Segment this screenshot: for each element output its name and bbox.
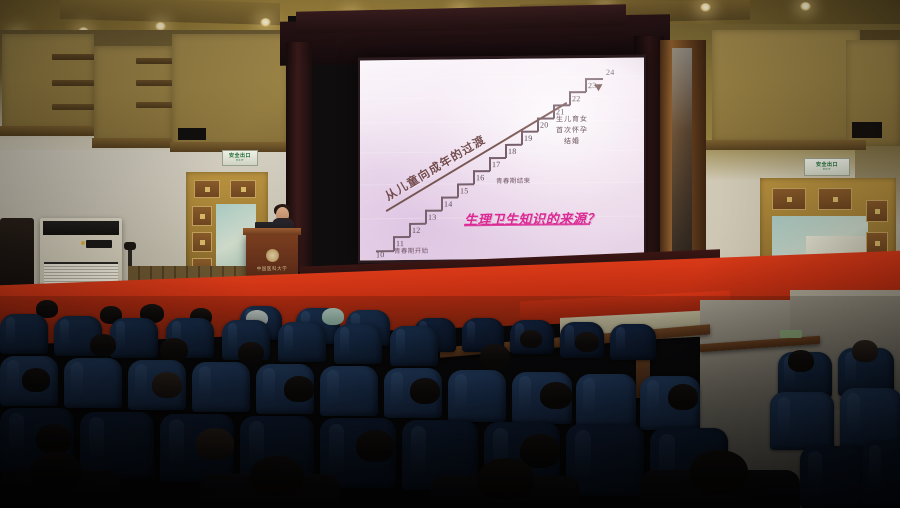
- stair-riser: [425, 210, 427, 224]
- audience-head: [480, 344, 510, 369]
- seat: [320, 366, 378, 416]
- stair-number: 24: [606, 68, 614, 77]
- acoustic-panel: [712, 30, 860, 142]
- pillar-glass-inlay: [672, 48, 692, 284]
- side-equipment: [0, 218, 34, 292]
- seat: [448, 370, 506, 422]
- stair-number: 20: [540, 121, 548, 130]
- seat: [390, 326, 438, 366]
- audience-head: [160, 338, 188, 362]
- stair-tread: [521, 131, 538, 133]
- label-adult-milestones: 生儿育女 首次怀孕 结婚: [556, 114, 588, 147]
- audience-head: [196, 428, 234, 460]
- panel-ledge: [706, 140, 866, 150]
- ceiling-spotlight: [700, 3, 711, 12]
- door-panel: [192, 232, 212, 252]
- ceiling-spotlight: [260, 18, 271, 27]
- foreground-head: [690, 450, 748, 494]
- stair-riser: [489, 157, 491, 171]
- seat: [0, 314, 48, 354]
- door-panel: [818, 188, 852, 210]
- panel-ledge: [92, 138, 176, 148]
- wall-speaker: [178, 128, 206, 140]
- projection-screen: 10 11 12 13 14 15 16 17 18 19 20 21 22 2…: [358, 54, 646, 263]
- wall-speaker: [852, 122, 882, 138]
- water-bottles: [780, 330, 802, 338]
- stair-number: 22: [572, 94, 580, 103]
- milestone-first-pregnancy: 首次怀孕: [556, 125, 588, 136]
- exit-sign-left-en: EXIT: [236, 159, 244, 162]
- label-puberty-start: 青春期开始: [394, 245, 429, 255]
- stair-riser: [457, 183, 459, 197]
- progression-arrow: [385, 102, 567, 212]
- stair-tread: [409, 223, 426, 225]
- stair-tread: [489, 157, 506, 159]
- stair-tread: [393, 236, 410, 238]
- ac-led-indicator: [81, 241, 85, 245]
- stair-riser: [473, 170, 475, 184]
- stair-riser: [505, 144, 507, 158]
- stair-number: 16: [476, 173, 484, 182]
- university-emblem-icon: [266, 249, 279, 262]
- stair-riser: [441, 197, 443, 211]
- stair-tread: [457, 183, 474, 185]
- door-panel: [194, 180, 220, 198]
- audience-head: [410, 378, 440, 404]
- panel-strip: [136, 58, 174, 64]
- panel-ledge: [0, 126, 96, 136]
- seat: [610, 324, 656, 360]
- stair-tread: [569, 91, 586, 93]
- audience-head: [356, 430, 394, 462]
- seat: [862, 440, 900, 508]
- audience-head: [90, 334, 116, 356]
- audience-head: [284, 376, 314, 402]
- door-panel: [230, 180, 256, 198]
- door-panel: [772, 188, 806, 210]
- auditorium-photo: 安全出口 EXIT 安全出口 EXIT: [0, 0, 900, 508]
- audience-head: [540, 382, 572, 409]
- ceiling-spotlight: [800, 2, 811, 11]
- audience-head: [238, 342, 264, 364]
- panel-strip: [136, 80, 174, 86]
- audience-head: [22, 368, 50, 392]
- seat: [840, 388, 900, 448]
- seat: [110, 318, 158, 358]
- slide-diagonal-title: 从儿童向成年的过渡: [382, 131, 489, 204]
- podium-front-text: 中国医科大学: [246, 266, 298, 272]
- stair-number: 18: [508, 147, 516, 156]
- seat: [576, 374, 636, 428]
- label-puberty-end: 青春期结束: [496, 175, 531, 185]
- panel-strip: [52, 54, 96, 60]
- stair-tread: [505, 144, 522, 146]
- audience-head: [788, 350, 814, 372]
- stair-tread: [473, 170, 490, 172]
- seat: [278, 322, 326, 362]
- audience-head: [36, 424, 72, 454]
- seat: [64, 358, 122, 408]
- stair-number: 19: [524, 134, 532, 143]
- panel-strip: [52, 80, 96, 86]
- foreground-head: [30, 452, 82, 492]
- stair-number: 12: [412, 226, 420, 235]
- panel-strip: [136, 102, 174, 108]
- audience-head: [668, 384, 698, 410]
- ac-display-panel: [86, 240, 112, 248]
- exit-sign-left: 安全出口 EXIT: [222, 150, 258, 166]
- exit-sign-right: 安全出口 EXIT: [804, 158, 850, 176]
- seat: [334, 324, 382, 364]
- door-panel: [866, 200, 888, 222]
- stair-number: 10: [376, 250, 384, 259]
- ac-top-vent: [43, 221, 119, 235]
- audience-head: [152, 372, 182, 398]
- audience-head: [575, 332, 599, 352]
- foreground-head: [478, 458, 534, 500]
- door-panel: [192, 206, 212, 226]
- milestone-childbearing: 生儿育女: [556, 114, 588, 125]
- foreground-head: [250, 456, 304, 496]
- stair-riser: [521, 131, 523, 145]
- stair-number: 15: [460, 186, 468, 195]
- panel-strip: [52, 104, 96, 110]
- stair-tread: [425, 210, 442, 212]
- stair-riser: [569, 91, 571, 105]
- stair-number: 13: [428, 213, 436, 222]
- podium-top-surface: [243, 228, 301, 235]
- seat: [800, 446, 870, 508]
- exit-sign-right-en: EXIT: [823, 168, 831, 171]
- projected-slide: 10 11 12 13 14 15 16 17 18 19 20 21 22 2…: [360, 58, 644, 261]
- stair-number: 14: [444, 200, 452, 209]
- audience-head: [520, 330, 542, 348]
- stair-riser: [585, 78, 587, 92]
- seat: [770, 392, 834, 450]
- milestone-marriage: 结婚: [556, 136, 588, 147]
- seat: [192, 362, 250, 412]
- stair-tread: [441, 196, 458, 198]
- seat: [80, 412, 154, 478]
- stair-number: 17: [492, 160, 500, 169]
- mic-stand-head: [124, 242, 136, 250]
- stair-riser: [409, 223, 411, 237]
- audience-head: [852, 340, 878, 362]
- audience-head: [322, 308, 344, 325]
- air-conditioner: [40, 218, 122, 290]
